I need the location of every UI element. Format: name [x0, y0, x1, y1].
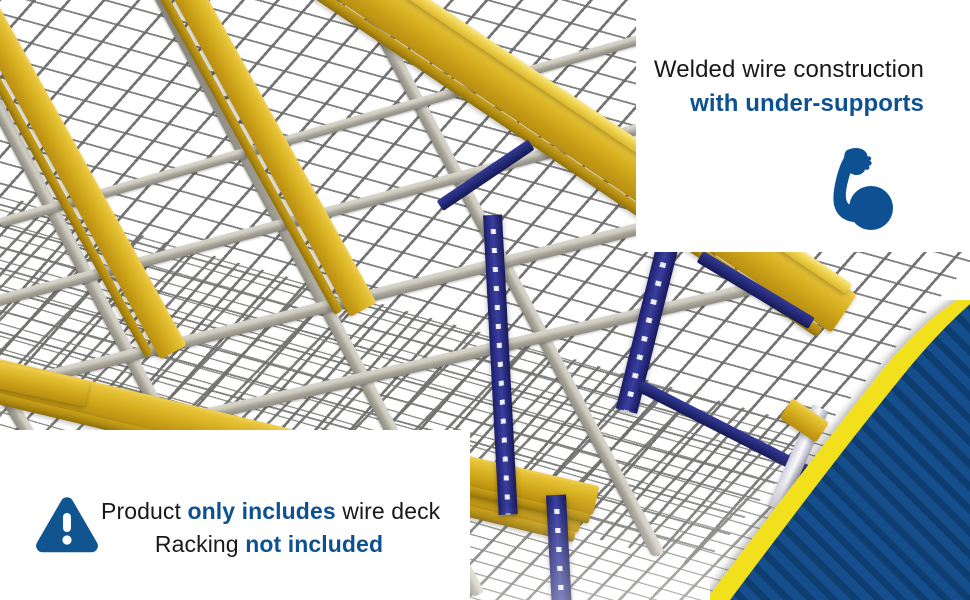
callout-bottom-line1-part3: wire deck [336, 498, 441, 524]
exclamation-bar [63, 513, 71, 532]
exclamation-dot [62, 535, 71, 544]
callout-bottom-line1: Product only includes wire deck [101, 497, 437, 527]
callout-top-line1: Welded wire construction [654, 54, 924, 86]
callout-bottom-line2-part1: Racking [155, 531, 245, 557]
callout-bottom-line2: Racking not included [101, 530, 437, 560]
callout-top-line2: with under-supports [654, 88, 924, 120]
warning-triangle-icon [36, 497, 98, 555]
flexed-bicep-icon [800, 146, 900, 232]
callout-bottom-left: Product only includes wire deck Racking … [101, 497, 437, 560]
callout-top-right: Welded wire construction with under-supp… [654, 54, 924, 120]
callout-bottom-line1-emphasis: only includes [187, 498, 335, 524]
callout-bottom-line1-part1: Product [101, 498, 187, 524]
callout-bottom-line2-emphasis: not included [245, 531, 383, 557]
feature-banner: Welded wire construction with under-supp… [0, 0, 970, 600]
